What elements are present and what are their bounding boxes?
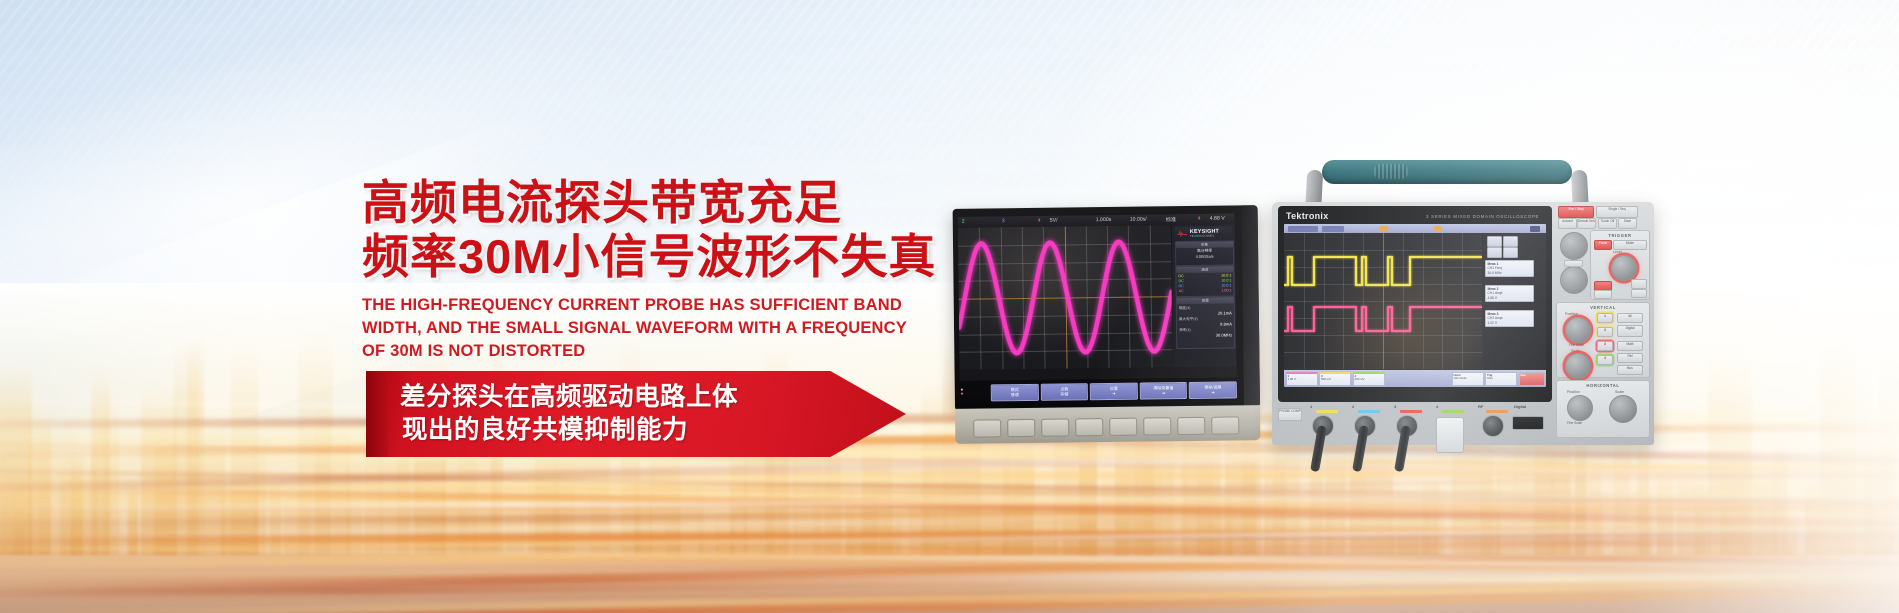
connector-colorbar-ch2 bbox=[1358, 410, 1380, 413]
bottom-tile-run[interactable]: Run bbox=[1519, 372, 1545, 386]
toolbar-menu-icon[interactable] bbox=[1530, 226, 1540, 232]
trigger-slope-button[interactable] bbox=[1631, 279, 1647, 289]
connector-label-rf: RF bbox=[1478, 404, 1483, 409]
channel-1-button[interactable]: 1 bbox=[1597, 313, 1613, 323]
bottom-tile-0[interactable]: 1 1.00 V bbox=[1286, 372, 1318, 386]
keysight-front-button[interactable] bbox=[1177, 417, 1205, 435]
knob-a-push-button[interactable] bbox=[1564, 260, 1583, 267]
ch-row-3-value: 1.00:1 bbox=[1221, 289, 1231, 293]
ribbon-callout: 差分探头在高频驱动电路上体 现出的良好共模抑制能力 bbox=[366, 371, 906, 457]
softkey-1[interactable]: 点数 存储 bbox=[1041, 383, 1089, 401]
bottom-tile-4[interactable]: Trig CH1 bbox=[1485, 372, 1517, 386]
horizontal-position-label: Position bbox=[1567, 390, 1580, 394]
tektronix-control-cluster: Run / Stop Single / Seq Autoset Default … bbox=[1556, 206, 1650, 442]
keysight-channels-panel: 通道 DC10.0:1 DC10.0:1 DC10.0:1 AC1.00:1 bbox=[1175, 265, 1234, 297]
measure-badge-0-line2: 30.0 MHz bbox=[1488, 271, 1502, 275]
keysight-softkey-bar: ■ ■ 模式 普通 点数 存储 设置 ➜ 清除测量值 ➜ bbox=[960, 381, 1237, 401]
copy-block: 高频电流探头带宽充足 频率30M小信号波形不失真 THE HIGH-FREQUE… bbox=[362, 178, 962, 364]
subcopy-english: THE HIGH-FREQUENCY CURRENT PROBE HAS SUF… bbox=[362, 294, 927, 364]
vertical-position-knob[interactable] bbox=[1565, 317, 1591, 343]
tektronix-side-panel: Meas 1 CH1 Freq 30.0 MHz Meas 2 CH1 Ampl… bbox=[1483, 233, 1546, 369]
softkey-3[interactable]: 清除测量值 ➜ bbox=[1140, 382, 1188, 400]
tektronix-bottom-tiles: 1 1.00 V 3 500 mV 4 200 mV bbox=[1284, 370, 1546, 387]
trigger-marker[interactable] bbox=[1380, 226, 1388, 232]
bottom-tile-1[interactable]: 3 500 mV bbox=[1319, 372, 1351, 386]
vertical-group-title: VERTICAL bbox=[1557, 303, 1649, 310]
keysight-chassis: 2 3 4 5V/ 1.000s 10.00s/ 标准 4 4.88 V bbox=[953, 205, 1260, 411]
multipurpose-knob-b[interactable] bbox=[1560, 266, 1588, 294]
ribbon-line-2: 现出的良好共模抑制能力 bbox=[400, 414, 840, 447]
trigger-level-label: Level bbox=[1613, 250, 1622, 254]
connector-label-ch4: 4 bbox=[1436, 404, 1438, 409]
touch-off-button[interactable]: Touch Off bbox=[1598, 218, 1617, 229]
probe-comp-button[interactable]: PROBE COMP bbox=[1278, 408, 1302, 421]
measure-badge-1[interactable]: Meas 2 CH1 Ampl 4.88 V bbox=[1485, 285, 1534, 302]
bottom-tile-1-line1: 500 mV bbox=[1321, 377, 1331, 381]
keysight-right-bezel bbox=[1242, 205, 1260, 407]
ch-row-2-coupling: DC bbox=[1179, 284, 1184, 288]
ref-button[interactable]: Ref bbox=[1617, 353, 1643, 363]
ribbon-text: 差分探头在高频驱动电路上体 现出的良好共模抑制能力 bbox=[400, 381, 840, 446]
all-channels-button[interactable]: All bbox=[1617, 313, 1643, 323]
math-button[interactable]: Math bbox=[1617, 341, 1643, 351]
vertical-group: VERTICAL Position Fine Scale Scale 1 2 3… bbox=[1556, 302, 1650, 378]
softkey-2-bottom: ➜ bbox=[1112, 391, 1115, 396]
autoset-button[interactable]: Autoset bbox=[1558, 218, 1577, 229]
horizontal-position-knob[interactable] bbox=[1567, 395, 1593, 421]
keysight-wave-mark bbox=[1177, 229, 1188, 236]
single-seq-button[interactable]: Single / Seq bbox=[1596, 206, 1638, 218]
side-button-1[interactable] bbox=[1503, 236, 1518, 247]
trigger-group: TRIGGER Force Mode Level bbox=[1590, 230, 1650, 300]
tektronix-screen[interactable]: Meas 1 CH1 Freq 30.0 MHz Meas 2 CH1 Ampl… bbox=[1284, 224, 1546, 387]
trigger-holdoff-button[interactable] bbox=[1594, 290, 1612, 299]
trigger-group-title: TRIGGER bbox=[1591, 231, 1649, 238]
status-timebase: 10.00s/ bbox=[1130, 217, 1147, 223]
bottom-tile-4-line1: CH1 bbox=[1487, 376, 1493, 380]
side-button-0[interactable] bbox=[1487, 236, 1502, 247]
status-ch2: 2 bbox=[962, 219, 965, 225]
subcopy-line-2: WIDTH, AND THE SMALL SIGNAL WAVEFORM WIT… bbox=[362, 319, 907, 337]
rf-connector[interactable] bbox=[1482, 415, 1504, 437]
status-ch3: 3 bbox=[1002, 219, 1005, 225]
digital-button[interactable]: Digital bbox=[1617, 325, 1643, 337]
status-trig-level: 4.88 V bbox=[1210, 216, 1225, 222]
keysight-front-panel-base bbox=[955, 405, 1260, 444]
force-trigger-button[interactable]: Force bbox=[1594, 240, 1612, 250]
meas-0-value: 20.1mA bbox=[1179, 310, 1232, 316]
softkey-label-group: ■ ■ bbox=[960, 384, 989, 401]
keysight-logo: KEYSIGHT TECHNOLOGIES bbox=[1175, 226, 1232, 239]
save-button[interactable]: Save bbox=[1618, 218, 1637, 229]
keysight-screen[interactable]: 2 3 4 5V/ 1.000s 10.00s/ 标准 4 4.88 V bbox=[958, 213, 1237, 380]
ch-row-3-coupling: AC bbox=[1179, 289, 1184, 293]
bottom-tile-2[interactable]: 4 200 mV bbox=[1353, 372, 1385, 386]
headline-line-2: 频率30M小信号波形不失真 bbox=[362, 232, 962, 283]
tektronix-wordmark: Tektronix bbox=[1286, 211, 1329, 221]
softkey-2[interactable]: 设置 ➜ bbox=[1090, 383, 1138, 401]
ch-row-0-coupling: DC bbox=[1178, 274, 1183, 278]
run-stop-button[interactable]: Run / Stop bbox=[1558, 206, 1594, 218]
softkey-0-bottom: 普通 bbox=[1011, 392, 1019, 397]
handle-grip-bar bbox=[1322, 160, 1572, 184]
trigger-coupling-button[interactable] bbox=[1631, 289, 1647, 298]
connector-colorbar-rf bbox=[1486, 410, 1508, 413]
keysight-tagline: TECHNOLOGIES bbox=[1190, 234, 1214, 238]
subcopy-line-3: OF 30M IS NOT DISTORTED bbox=[362, 342, 585, 360]
ch-row-1-coupling: DC bbox=[1178, 279, 1183, 283]
keysight-oscilloscope: 2 3 4 5V/ 1.000s 10.00s/ 标准 4 4.88 V bbox=[953, 205, 1261, 444]
side-button-2[interactable] bbox=[1487, 247, 1502, 258]
vertical-fine-label: Fine Scale bbox=[1569, 343, 1584, 347]
vertical-scale-knob[interactable] bbox=[1565, 353, 1591, 379]
softkey-4[interactable]: 保存/调用 ➜ bbox=[1189, 381, 1237, 399]
bottom-tile-3[interactable]: Horiz 100 ns/div bbox=[1452, 372, 1484, 386]
vertical-position-label: Position bbox=[1565, 312, 1578, 316]
bottom-tile-run-title: Run bbox=[1521, 374, 1543, 378]
keysight-front-button[interactable] bbox=[1075, 418, 1103, 436]
connector-label-ch1: 1 bbox=[1310, 404, 1312, 409]
keysight-front-button[interactable] bbox=[1041, 418, 1069, 436]
ch-row-0-value: 10.0:1 bbox=[1221, 273, 1231, 277]
keysight-front-button[interactable] bbox=[1007, 419, 1035, 437]
status-vdiv: 5V/ bbox=[1050, 218, 1058, 224]
status-trig-ch: 4 bbox=[1198, 216, 1201, 222]
status-delay: 1.000s bbox=[1096, 217, 1112, 223]
horizontal-fine-label: Fine Scale bbox=[1567, 421, 1582, 425]
tektronix-connector-row: PROBE COMP 1 2 3 4 RF Digital bbox=[1278, 404, 1552, 444]
keysight-front-button[interactable] bbox=[1143, 417, 1171, 435]
ribbon-left-notch bbox=[366, 371, 388, 457]
horizontal-scale-knob[interactable] bbox=[1609, 395, 1637, 423]
default-setup-button[interactable]: Default Setup bbox=[1577, 218, 1596, 229]
tektronix-front-bezel: Tektronix 3 SERIES MIXED DOMAIN OSCILLOS… bbox=[1278, 206, 1552, 402]
ch-row-1-value: 10.0:1 bbox=[1221, 278, 1231, 282]
bottom-tile-3-line1: 100 ns/div bbox=[1454, 376, 1467, 380]
connector-label-ch3: 3 bbox=[1394, 404, 1396, 409]
tektronix-oscilloscope: Tektronix 3 SERIES MIXED DOMAIN OSCILLOS… bbox=[1272, 160, 1654, 445]
connector-colorbar-ch4 bbox=[1442, 410, 1464, 413]
digital-port[interactable] bbox=[1512, 416, 1544, 430]
bottom-tile-spacer bbox=[1386, 372, 1450, 386]
toolbar-tab-1[interactable] bbox=[1322, 226, 1344, 232]
softkey-4-bottom: ➜ bbox=[1211, 390, 1214, 395]
keysight-front-button[interactable] bbox=[1109, 418, 1137, 436]
acquire-rate: 4.00GSa/s bbox=[1176, 255, 1233, 261]
multipurpose-knob-a[interactable] bbox=[1560, 232, 1588, 260]
tektronix-waveforms bbox=[1284, 233, 1482, 369]
softkey-0[interactable]: 模式 普通 bbox=[991, 384, 1039, 402]
connector-colorbar-ch3 bbox=[1400, 410, 1422, 413]
connector-label-digital: Digital bbox=[1514, 404, 1526, 409]
toolbar-tab-0[interactable] bbox=[1288, 226, 1318, 232]
horizontal-group: HORIZONTAL Position Scale Fine Scale bbox=[1556, 380, 1650, 438]
tektronix-model-label: 3 SERIES MIXED DOMAIN OSCILLOSCOPE bbox=[1426, 214, 1539, 219]
channel-4-button[interactable]: 4 bbox=[1597, 355, 1613, 365]
keysight-sine-waveform bbox=[958, 225, 1173, 370]
keysight-front-button[interactable] bbox=[1211, 416, 1239, 434]
status-ch4: 4 bbox=[1038, 218, 1041, 224]
trigger-mode-button[interactable]: Mode bbox=[1613, 240, 1647, 250]
horizontal-scale-label: Scale bbox=[1615, 390, 1624, 394]
status-mode: 标准 bbox=[1166, 217, 1176, 224]
bus-button[interactable]: Bus bbox=[1617, 365, 1643, 375]
bottom-tile-2-line1: 200 mV bbox=[1355, 377, 1365, 381]
meas-2-value: 30.0MHz bbox=[1179, 332, 1232, 338]
ribbon-line-1: 差分探头在高频驱动电路上体 bbox=[400, 381, 840, 414]
trigger-level-knob[interactable] bbox=[1611, 255, 1637, 281]
meas-1-value: 9.8mA bbox=[1179, 321, 1232, 327]
connector-colorbar-ch1 bbox=[1316, 410, 1338, 413]
keysight-front-button[interactable] bbox=[973, 419, 1001, 437]
tektronix-chassis: Tektronix 3 SERIES MIXED DOMAIN OSCILLOS… bbox=[1272, 202, 1654, 445]
subcopy-line-1: THE HIGH-FREQUENCY CURRENT PROBE HAS SUF… bbox=[362, 296, 902, 314]
channel-3-button[interactable]: 3 bbox=[1597, 341, 1613, 351]
keysight-acquire-panel: 采集 高分辨率 4.00GSa/s bbox=[1175, 240, 1234, 266]
tektronix-top-toolbar[interactable] bbox=[1284, 224, 1546, 233]
channel-2-button[interactable]: 2 bbox=[1597, 327, 1613, 337]
promo-banner: 高频电流探头带宽充足 频率30M小信号波形不失真 THE HIGH-FREQUE… bbox=[0, 0, 1899, 613]
keysight-side-panel: KEYSIGHT TECHNOLOGIES 采集 高分辨率 4.00GSa/s … bbox=[1172, 224, 1237, 367]
keysight-measure-panel: 测量 幅度(4) 20.1mA 最大电平(4) 9.8mA 频率(4) 30.0… bbox=[1176, 296, 1236, 349]
softkey-1-bottom: 存储 bbox=[1060, 391, 1068, 396]
cursor-marker[interactable] bbox=[1434, 226, 1442, 232]
measure-badge-2[interactable]: Meas 3 CH3 Ampl 1.02 V bbox=[1485, 310, 1534, 327]
measure-badge-1-line2: 4.88 V bbox=[1488, 296, 1498, 300]
headline-line-1: 高频电流探头带宽充足 bbox=[362, 178, 962, 229]
attached-probe-body bbox=[1436, 417, 1464, 453]
ch-row-2-value: 10.0:1 bbox=[1221, 284, 1231, 288]
bottom-tile-0-line1: 1.00 V bbox=[1288, 377, 1296, 381]
connector-label-ch2: 2 bbox=[1352, 404, 1354, 409]
handle-ridges bbox=[1374, 164, 1408, 179]
horizontal-group-title: HORIZONTAL bbox=[1557, 381, 1649, 388]
side-button-3[interactable] bbox=[1503, 247, 1518, 258]
measure-badge-0[interactable]: Meas 1 CH1 Freq 30.0 MHz bbox=[1485, 260, 1534, 277]
measure-badge-2-line2: 1.02 V bbox=[1488, 321, 1498, 325]
softkey-3-bottom: ➜ bbox=[1162, 390, 1165, 395]
